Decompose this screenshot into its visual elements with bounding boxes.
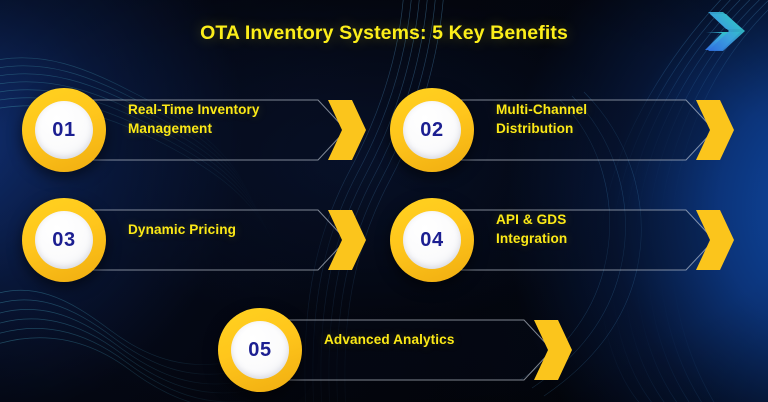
benefit-marker-05: 05: [218, 308, 302, 392]
benefit-label-line: Real-Time Inventory: [128, 101, 260, 120]
benefit-label-05: Advanced Analytics: [324, 308, 454, 372]
infographic-canvas: OTA Inventory Systems: 5 Key Benefits: [0, 0, 768, 402]
benefit-marker-inner: 02: [403, 101, 461, 159]
benefit-label-02: Multi-Channel Distribution: [496, 88, 587, 152]
benefit-number: 01: [52, 120, 75, 140]
benefit-marker-03: 03: [22, 198, 106, 282]
benefit-marker-inner: 05: [231, 321, 289, 379]
page-title: OTA Inventory Systems: 5 Key Benefits: [0, 22, 768, 45]
benefit-banner-04: [434, 208, 720, 272]
benefit-marker-inner: 03: [35, 211, 93, 269]
benefit-number: 05: [248, 340, 271, 360]
benefit-marker-02: 02: [390, 88, 474, 172]
benefit-label-03: Dynamic Pricing: [128, 198, 236, 262]
benefit-number: 03: [52, 230, 75, 250]
benefit-item-04[interactable]: API & GDS Integration 04: [390, 198, 720, 282]
benefit-item-05[interactable]: Advanced Analytics 05: [218, 308, 558, 392]
benefit-label-line: Advanced Analytics: [324, 331, 454, 350]
benefit-label-01: Real-Time Inventory Management: [128, 88, 260, 152]
benefit-item-03[interactable]: Dynamic Pricing 03: [22, 198, 352, 282]
benefit-marker-inner: 04: [403, 211, 461, 269]
benefit-marker-04: 04: [390, 198, 474, 282]
benefit-number: 02: [420, 120, 443, 140]
benefit-label-line: API & GDS: [496, 211, 567, 230]
benefit-marker-inner: 01: [35, 101, 93, 159]
benefit-item-02[interactable]: Multi-Channel Distribution 02: [390, 88, 720, 172]
benefit-label-line: Integration: [496, 230, 567, 249]
benefit-label-line: Multi-Channel: [496, 101, 587, 120]
benefit-label-line: Dynamic Pricing: [128, 221, 236, 240]
chevron-logo-icon: [696, 8, 752, 56]
benefit-label-line: Distribution: [496, 120, 587, 139]
benefit-number: 04: [420, 230, 443, 250]
benefit-label-line: Management: [128, 120, 260, 139]
benefit-label-04: API & GDS Integration: [496, 198, 567, 262]
benefit-marker-01: 01: [22, 88, 106, 172]
benefit-item-01[interactable]: Real-Time Inventory Management 01: [22, 88, 352, 172]
